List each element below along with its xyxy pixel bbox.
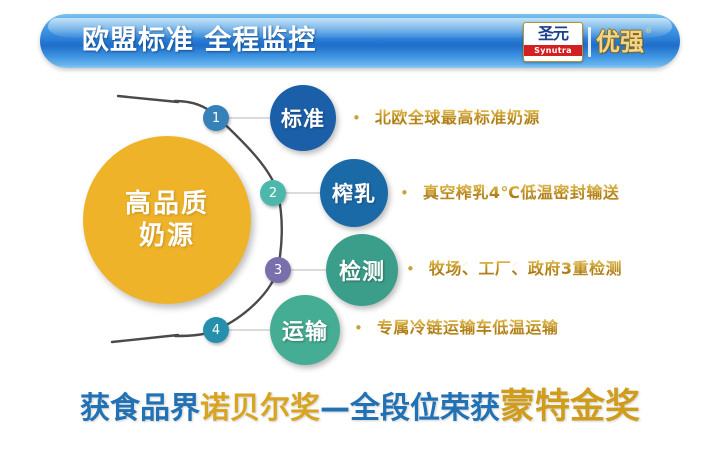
bullet-icon-4: • — [354, 321, 363, 336]
logo-english-name: Synutra — [524, 45, 582, 56]
footer-segment-4: 蒙特金奖 — [500, 387, 640, 427]
footer-segment-3: —全段位荣获 — [320, 391, 500, 426]
step-badge-1[interactable]: 1 — [203, 105, 229, 131]
step-label-text-3: 检测 — [339, 254, 385, 286]
registered-trademark-icon: ® — [645, 27, 652, 36]
page-title: 欧盟标准 全程监控 — [82, 22, 316, 60]
hub-label-line1: 高品质 — [125, 188, 209, 220]
logo-chinese-name: 圣元 — [538, 23, 568, 45]
process-diagram: 高品质 奶源 1 2 3 4 标准 榨乳 检测 运输 • 北欧全球最高标准奶源 … — [0, 78, 720, 373]
step-badge-3[interactable]: 3 — [265, 257, 291, 283]
step-description-row-2: • 真空榨乳4℃低温密封输送 真空榨乳4℃低温密封输送 — [400, 183, 619, 203]
step-label-text-2: 榨乳 — [332, 178, 376, 208]
step-label-circle-1[interactable]: 标准 — [270, 85, 336, 151]
step-description-row-4: • 专属冷链运输车低温运输 专属冷链运输车低温运输 — [354, 318, 558, 338]
step-label-circle-2[interactable]: 榨乳 — [320, 159, 388, 227]
step-label-circle-3[interactable]: 检测 — [326, 234, 398, 306]
logo-divider — [588, 27, 591, 57]
step-label-text-4: 运输 — [282, 314, 328, 346]
footer-segment-1: 获食品界 — [80, 391, 200, 426]
step-badge-4[interactable]: 4 — [203, 317, 229, 343]
footer-segment-2: 诺贝尔奖 — [200, 391, 320, 426]
hub-circle: 高品质 奶源 — [83, 136, 251, 304]
step-description-1: 北欧全球最高标准奶源 — [375, 108, 540, 127]
brand-logo: 圣元 Synutra 优强 ® — [523, 22, 652, 62]
step-label-circle-4[interactable]: 运输 — [270, 295, 340, 365]
logo-subbrand: 优强 — [596, 27, 644, 57]
hub-label-line2: 奶源 — [139, 220, 195, 252]
logo-mark: 圣元 Synutra — [523, 22, 583, 62]
step-badge-2[interactable]: 2 — [260, 180, 286, 206]
header-banner: 欧盟标准 全程监控 圣元 Synutra 优强 ® — [40, 14, 680, 68]
spine-tail-bottom — [112, 335, 178, 342]
spine-tail-top — [118, 96, 178, 102]
step-description-4: 专属冷链运输车低温运输 — [377, 318, 559, 337]
step-description-3: 牧场、工厂、政府3重检测 — [429, 259, 622, 278]
bullet-icon-3: • — [406, 262, 415, 277]
bullet-icon-1: • — [352, 111, 361, 126]
step-description-row-3: • 牧场、工厂、政府3重检测 牧场、工厂、政府3重检测 — [406, 259, 622, 279]
step-description-row-1: • 北欧全球最高标准奶源 北欧全球最高标准奶源 — [352, 108, 540, 128]
step-label-text-1: 标准 — [281, 103, 325, 133]
logo-subbrand-wrap: 优强 ® — [596, 27, 652, 57]
bullet-icon-2: • — [400, 186, 409, 201]
step-description-2: 真空榨乳4℃低温密封输送 — [423, 183, 620, 202]
footer-slogan: 获食品界诺贝尔奖—全段位荣获蒙特金奖 — [0, 378, 720, 429]
